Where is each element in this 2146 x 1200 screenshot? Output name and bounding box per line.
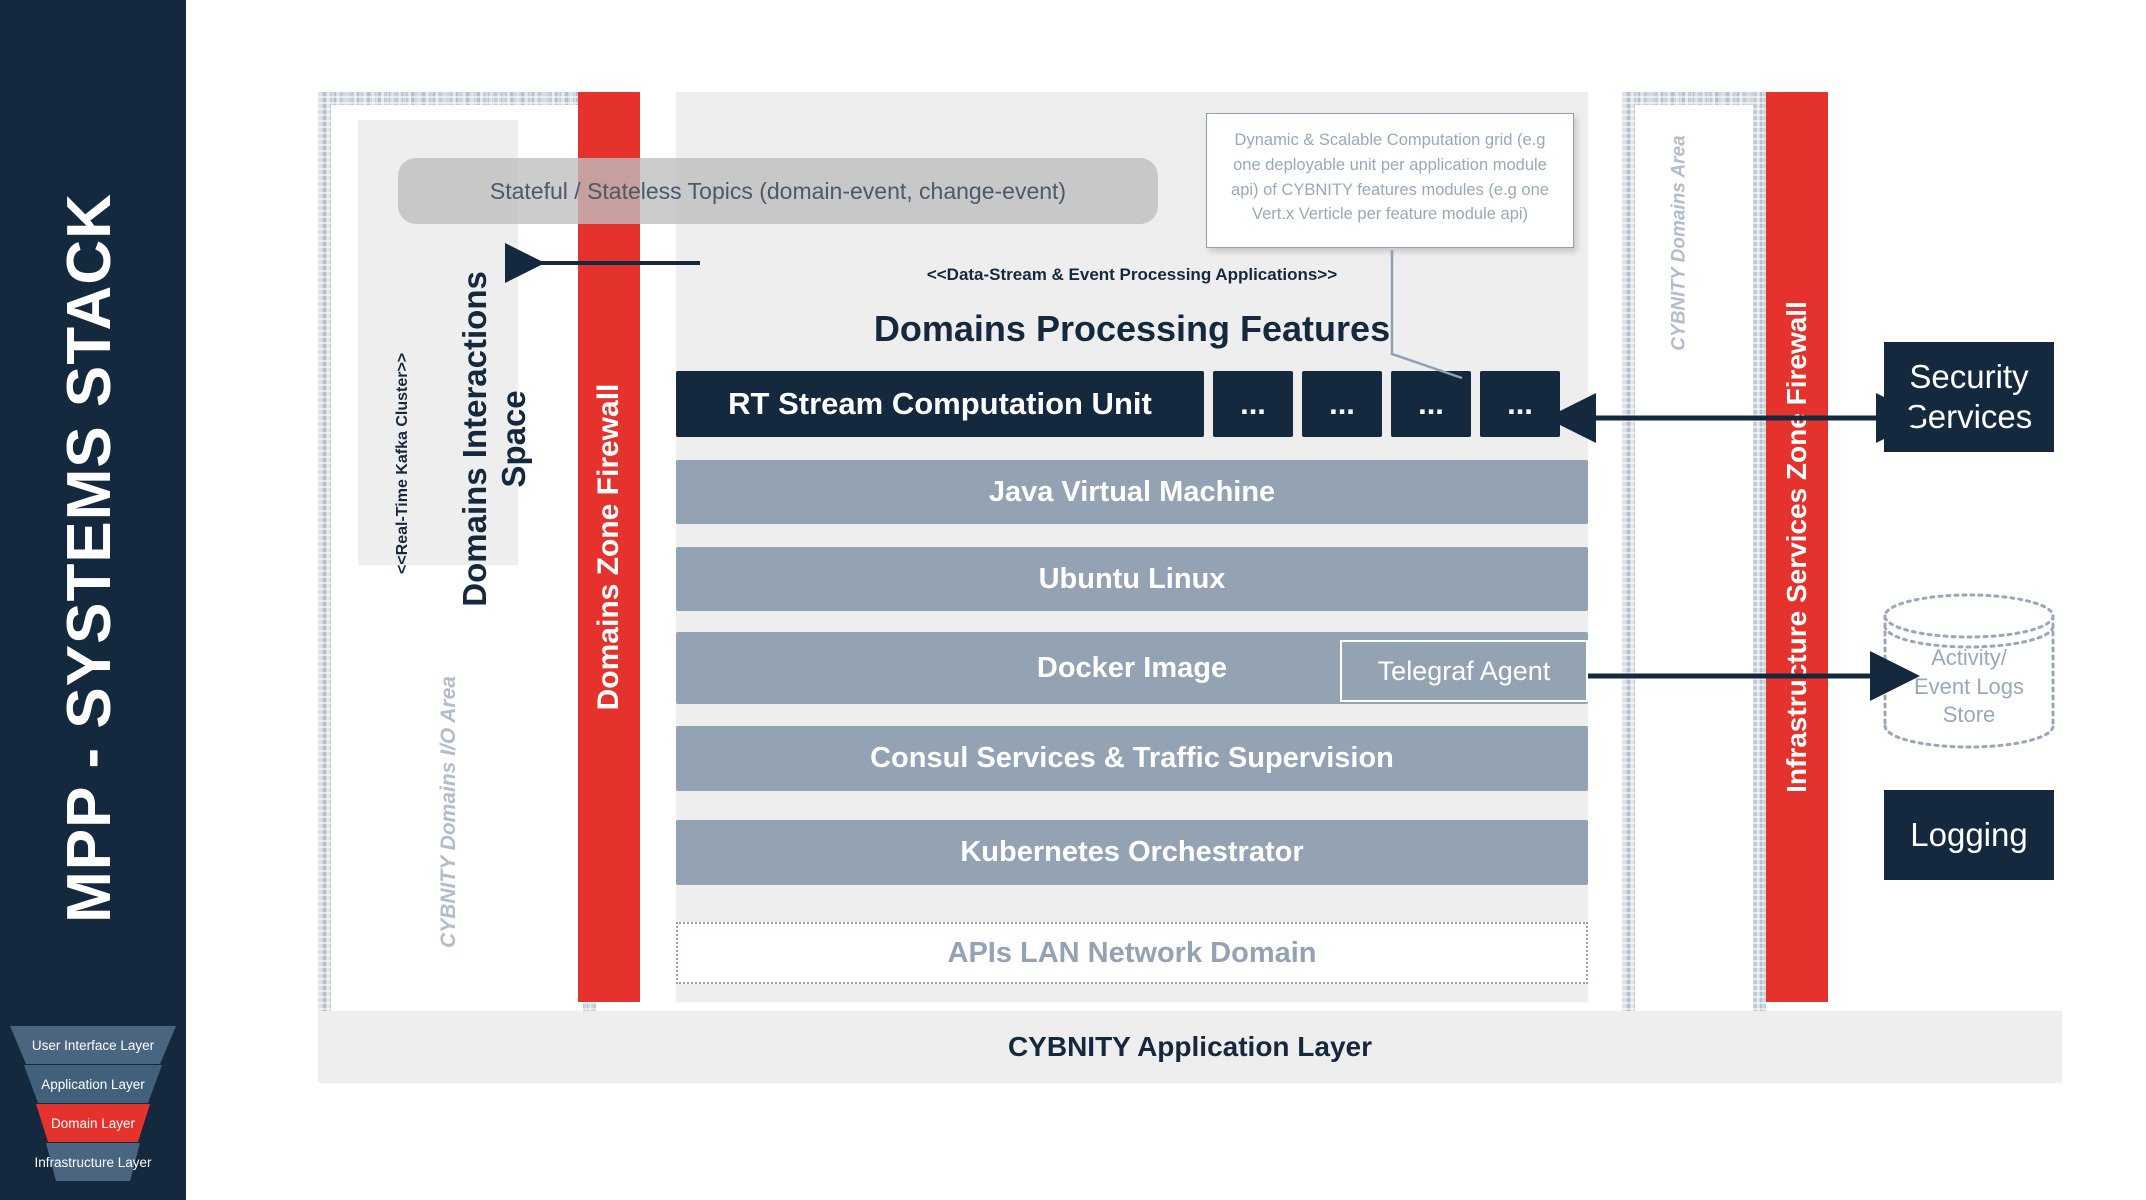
pyramid-label-application-layer: Application Layer <box>41 1077 145 1092</box>
stack-row-consul-services[interactable]: Consul Services & Traffic Supervision <box>676 726 1588 791</box>
security-services-label: Security Services <box>1906 357 2033 436</box>
domains-interactions-space-title: Domains Interactions Space <box>456 244 534 634</box>
apis-lan-network-domain[interactable]: APIs LAN Network Domain <box>676 922 1588 984</box>
stack-row-java-virtual-machine[interactable]: Java Virtual Machine <box>676 460 1588 524</box>
domains-area-label: CYBNITY Domains Area <box>1669 135 1691 350</box>
domains-area-frame <box>1622 92 1766 1028</box>
activity-event-logs-store[interactable]: Activity/ Event Logs Store <box>1878 592 2060 752</box>
computation-grid-callout: Dynamic & Scalable Computation grid (e.g… <box>1206 113 1574 248</box>
sidebar: MPP - SYSTEMS STACK User Interface Layer… <box>0 0 186 1200</box>
telegraf-agent-box[interactable]: Telegraf Agent <box>1340 640 1588 702</box>
unit-rt-stream-computation-unit[interactable]: RT Stream Computation Unit <box>676 371 1204 437</box>
pyramid-label-user-interface-layer: User Interface Layer <box>32 1038 154 1053</box>
infrastructure-firewall-label: Infrastructure Services Zone Firewall <box>1781 301 1813 793</box>
unit-placeholder-3[interactable]: ... <box>1391 371 1471 437</box>
layer-pyramid: User Interface Layer Application Layer D… <box>0 1026 186 1182</box>
cybnity-application-layer: CYBNITY Application Layer <box>318 1011 2062 1083</box>
pyramid-row-3: Infrastructure Layer <box>0 1143 186 1181</box>
infrastructure-services-zone-firewall: Infrastructure Services Zone Firewall <box>1766 92 1828 1002</box>
data-stream-stereotype: <<Data-Stream & Event Processing Applica… <box>676 265 1588 285</box>
processing-units-row: RT Stream Computation Unit ... ... ... .… <box>676 371 1560 437</box>
logging-box[interactable]: Logging <box>1884 790 2054 880</box>
unit-placeholder-1[interactable]: ... <box>1213 371 1293 437</box>
unit-placeholder-2[interactable]: ... <box>1302 371 1382 437</box>
topics-bar: Stateful / Stateless Topics (domain-even… <box>398 158 1158 224</box>
kafka-cluster-stereotype: <<Real-Time Kafka Cluster>> <box>394 354 412 574</box>
pyramid-row-1: Application Layer <box>0 1065 186 1103</box>
pyramid-row-0: User Interface Layer <box>0 1026 186 1064</box>
pyramid-label-infrastructure-layer: Infrastructure Layer <box>34 1155 151 1170</box>
page-title: MPP - SYSTEMS STACK <box>30 78 150 1038</box>
domains-processing-features-title: Domains Processing Features <box>676 308 1588 350</box>
stack-row-kubernetes-orchestrator[interactable]: Kubernetes Orchestrator <box>676 820 1588 885</box>
pyramid-row-2: Domain Layer <box>0 1104 186 1142</box>
logs-store-label: Activity/ Event Logs Store <box>1878 644 2060 730</box>
domains-io-area-label: CYBNITY Domains I/O Area <box>437 676 461 948</box>
security-services-box[interactable]: Security Services <box>1884 342 2054 452</box>
logging-label: Logging <box>1910 815 2027 855</box>
domains-zone-firewall-label: Domains Zone Firewall <box>592 384 626 711</box>
stack-row-ubuntu-linux[interactable]: Ubuntu Linux <box>676 547 1588 611</box>
unit-placeholder-4[interactable]: ... <box>1480 371 1560 437</box>
domains-zone-firewall: Domains Zone Firewall <box>578 92 640 1002</box>
pyramid-label-domain-layer: Domain Layer <box>51 1116 135 1131</box>
application-layer-label: CYBNITY Application Layer <box>1008 1031 1372 1063</box>
